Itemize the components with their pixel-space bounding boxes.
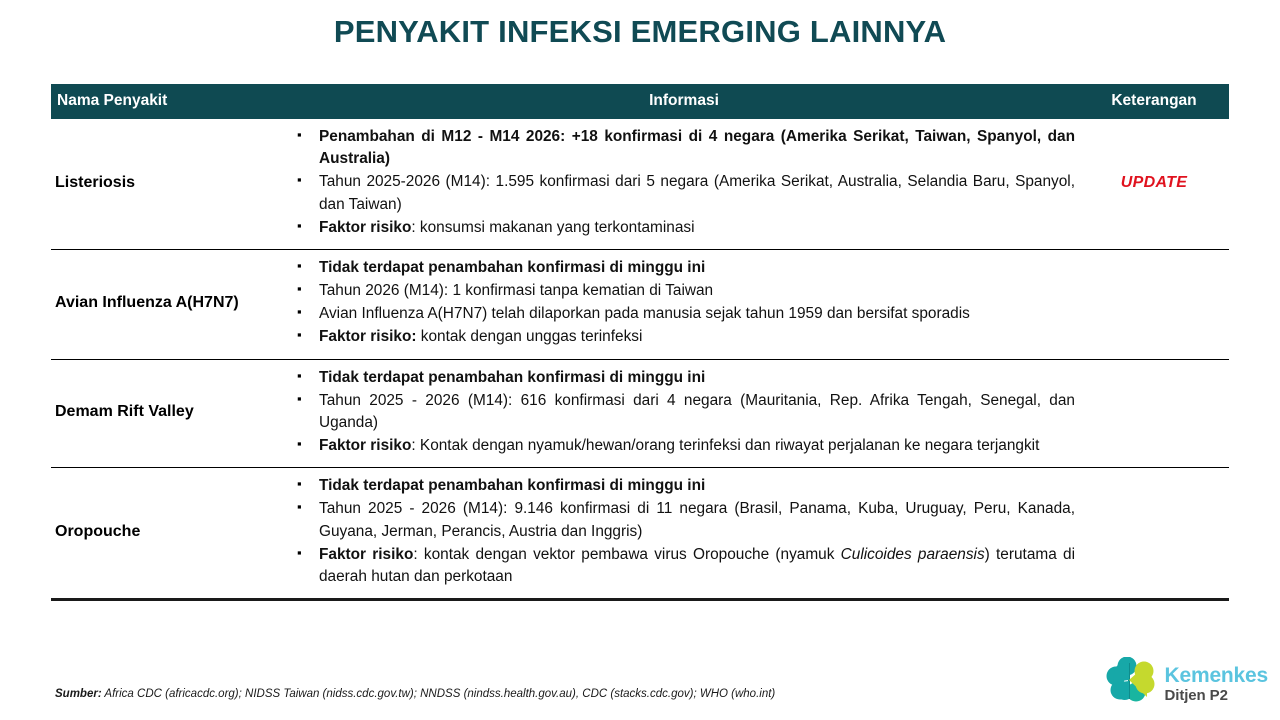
kemenkes-logo: Kemenkes Ditjen P2 xyxy=(1103,657,1268,712)
column-header-keterangan: Keterangan xyxy=(1079,84,1229,119)
cell-information: Tidak terdapat penambahan konfirmasi di … xyxy=(289,359,1079,468)
cell-information: Penambahan di M12 - M14 2026: +18 konfir… xyxy=(289,119,1079,249)
slide-root: PENYAKIT INFEKSI EMERGING LAINNYA Nama P… xyxy=(0,0,1280,720)
table-body: Listeriosis Penambahan di M12 - M14 2026… xyxy=(51,119,1229,600)
source-footnote: Sumber: Africa CDC (africacdc.org); NIDS… xyxy=(55,688,775,700)
cell-information: Tidak terdapat penambahan konfirmasi di … xyxy=(289,468,1079,600)
table-row: Oropouche Tidak terdapat penambahan konf… xyxy=(51,468,1229,600)
disease-table: Nama Penyakit Informasi Keterangan Liste… xyxy=(51,84,1229,601)
list-item: Tidak terdapat penambahan konfirmasi di … xyxy=(293,475,1075,497)
column-header-informasi: Informasi xyxy=(289,84,1079,119)
risk-factor-text: : konsumsi makanan yang terkontaminasi xyxy=(411,219,694,236)
column-header-nama-penyakit: Nama Penyakit xyxy=(51,84,289,119)
status-badge: UPDATE xyxy=(1121,174,1187,191)
table-row: Avian Influenza A(H7N7) Tidak terdapat p… xyxy=(51,249,1229,359)
list-item: Avian Influenza A(H7N7) telah dilaporkan… xyxy=(293,303,1075,325)
list-item: Penambahan di M12 - M14 2026: +18 konfir… xyxy=(293,126,1075,170)
table-header-row: Nama Penyakit Informasi Keterangan xyxy=(51,84,1229,119)
list-item: Tahun 2025 - 2026 (M14): 616 konfirmasi … xyxy=(293,390,1075,434)
list-item: Faktor risiko: konsumsi makanan yang ter… xyxy=(293,217,1075,239)
risk-factor-label: Faktor risiko xyxy=(319,546,413,563)
risk-factor-text: : kontak dengan vektor pembawa virus Oro… xyxy=(413,546,840,563)
list-item: Tidak terdapat penambahan konfirmasi di … xyxy=(293,367,1075,389)
risk-factor-text: kontak dengan unggas terinfeksi xyxy=(417,328,643,345)
cell-disease-name: Demam Rift Valley xyxy=(51,359,289,468)
list-item: Faktor risiko: kontak dengan vektor pemb… xyxy=(293,544,1075,588)
cell-keterangan xyxy=(1079,359,1229,468)
bullet-list: Tidak terdapat penambahan konfirmasi di … xyxy=(293,257,1075,349)
species-name: Culicoides paraensis xyxy=(841,546,985,563)
cell-information: Tidak terdapat penambahan konfirmasi di … xyxy=(289,249,1079,359)
cell-keterangan xyxy=(1079,468,1229,600)
risk-factor-text: : Kontak dengan nyamuk/hewan/orang terin… xyxy=(411,437,1039,454)
table-row: Listeriosis Penambahan di M12 - M14 2026… xyxy=(51,119,1229,249)
cell-keterangan: UPDATE xyxy=(1079,119,1229,249)
source-text: Africa CDC (africacdc.org); NIDSS Taiwan… xyxy=(102,688,776,700)
logo-title: Kemenkes xyxy=(1165,665,1268,687)
disease-table-container: Nama Penyakit Informasi Keterangan Liste… xyxy=(51,84,1229,601)
cell-disease-name: Avian Influenza A(H7N7) xyxy=(51,249,289,359)
cell-disease-name: Listeriosis xyxy=(51,119,289,249)
kemenkes-emblem-icon xyxy=(1103,657,1157,712)
page-title: PENYAKIT INFEKSI EMERGING LAINNYA xyxy=(0,14,1280,50)
list-item: Tahun 2025 - 2026 (M14): 9.146 konfirmas… xyxy=(293,498,1075,542)
bullet-list: Tidak terdapat penambahan konfirmasi di … xyxy=(293,475,1075,588)
list-item: Tahun 2025-2026 (M14): 1.595 konfirmasi … xyxy=(293,171,1075,215)
list-item: Faktor risiko: Kontak dengan nyamuk/hewa… xyxy=(293,435,1075,457)
risk-factor-label: Faktor risiko: xyxy=(319,328,417,345)
logo-subtitle: Ditjen P2 xyxy=(1165,688,1268,704)
bullet-list: Penambahan di M12 - M14 2026: +18 konfir… xyxy=(293,126,1075,239)
risk-factor-label: Faktor risiko xyxy=(319,437,411,454)
risk-factor-label: Faktor risiko xyxy=(319,219,411,236)
table-row: Demam Rift Valley Tidak terdapat penamba… xyxy=(51,359,1229,468)
source-label: Sumber: xyxy=(55,688,102,700)
list-item: Tidak terdapat penambahan konfirmasi di … xyxy=(293,257,1075,279)
cell-disease-name: Oropouche xyxy=(51,468,289,600)
logo-text: Kemenkes Ditjen P2 xyxy=(1165,665,1268,703)
bullet-list: Tidak terdapat penambahan konfirmasi di … xyxy=(293,367,1075,458)
table-header: Nama Penyakit Informasi Keterangan xyxy=(51,84,1229,119)
list-item: Tahun 2026 (M14): 1 konfirmasi tanpa kem… xyxy=(293,280,1075,302)
cell-keterangan xyxy=(1079,249,1229,359)
list-item: Faktor risiko: kontak dengan unggas teri… xyxy=(293,326,1075,348)
